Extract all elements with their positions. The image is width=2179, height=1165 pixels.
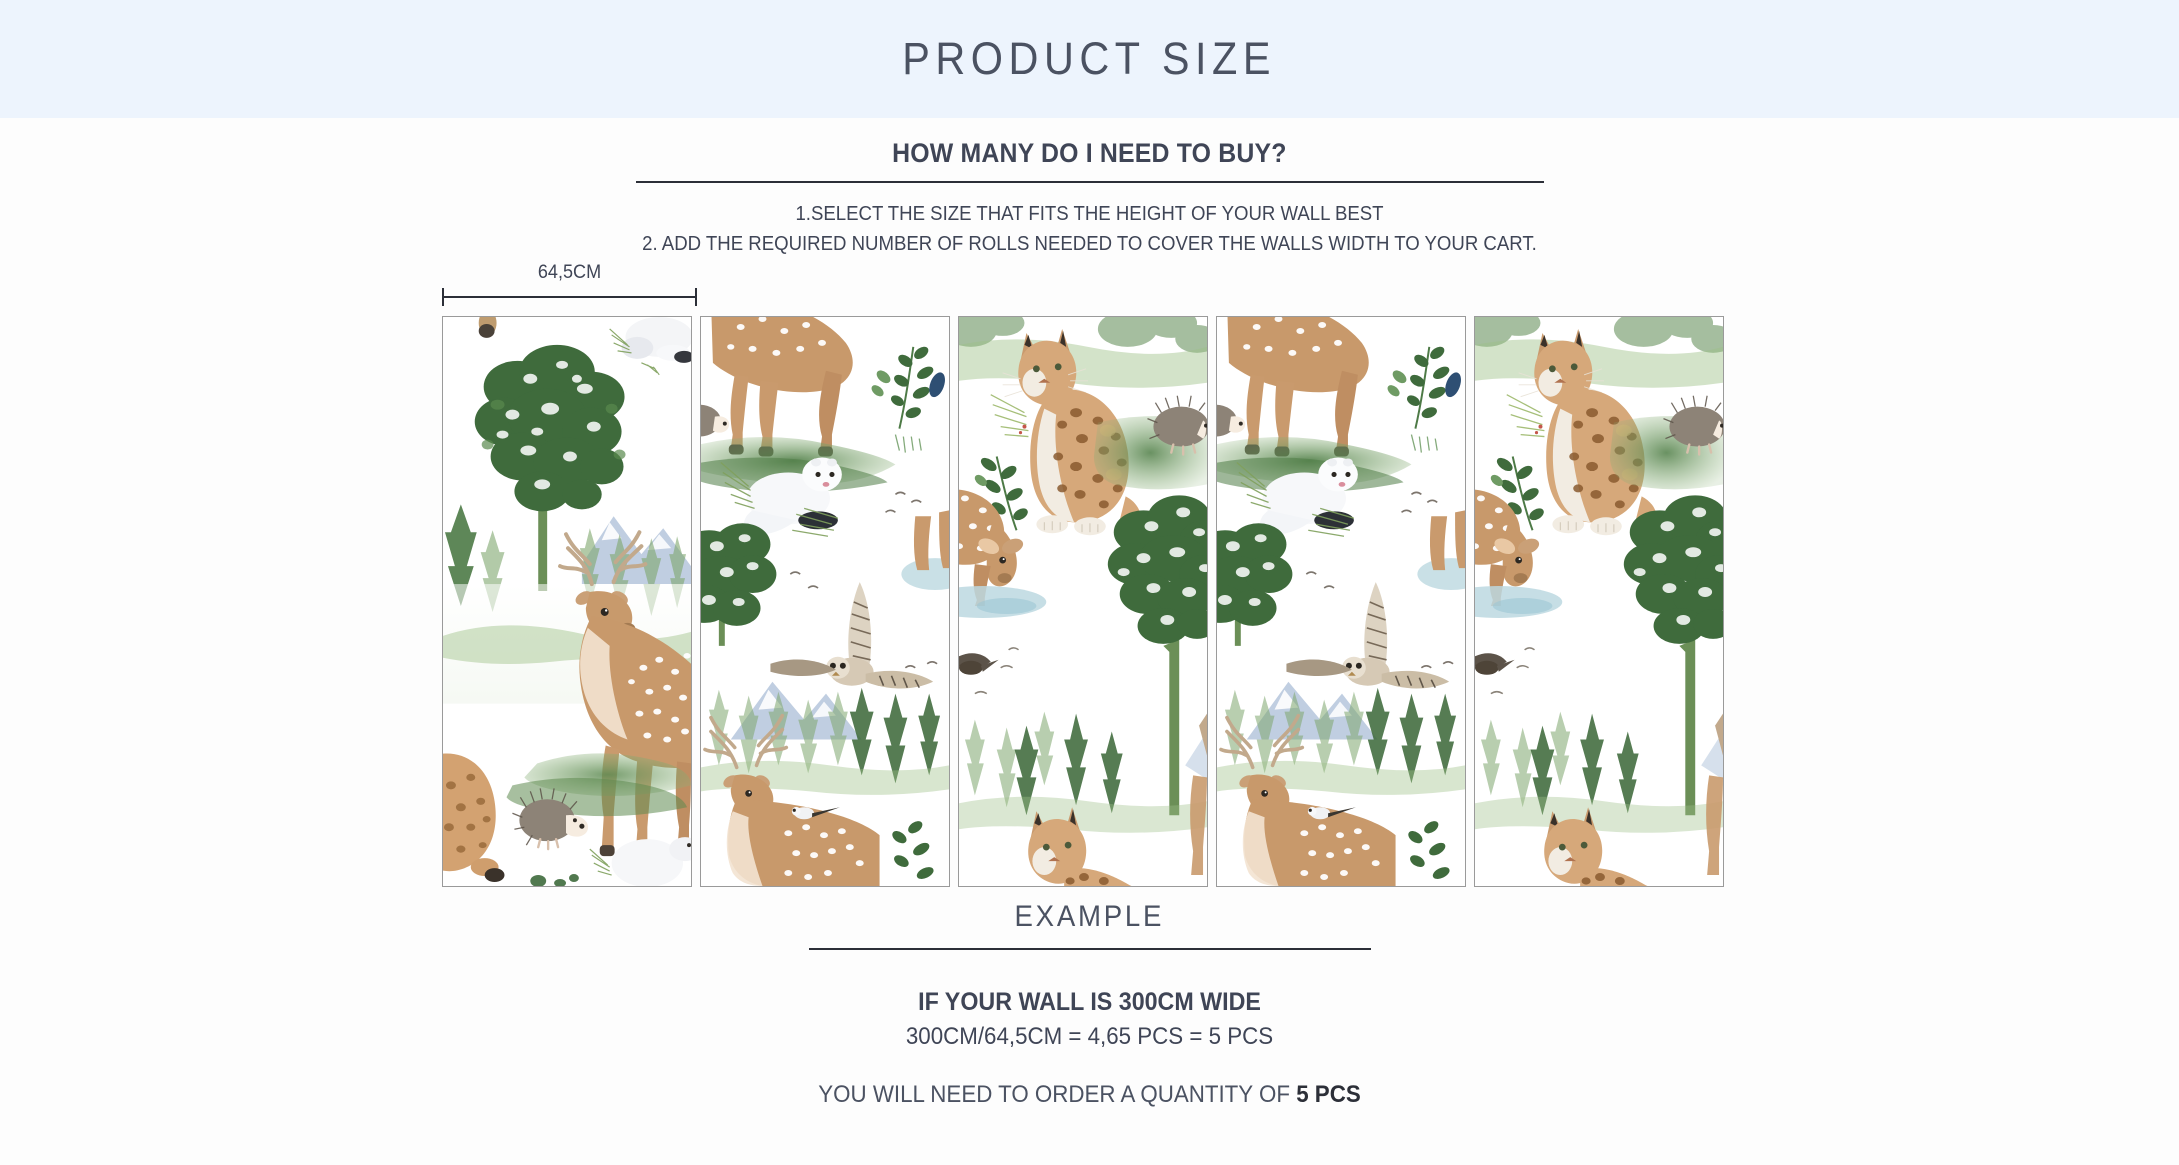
woodland-pattern-b	[701, 317, 949, 886]
measurement-tick-right	[695, 288, 697, 306]
wallpaper-panel-1[interactable]	[442, 316, 692, 887]
example-order-quantity-value: 5 PCS	[1296, 1081, 1361, 1108]
example-order-quantity: YOU WILL NEED TO ORDER A QUANTITY OF 5 P…	[76, 1081, 2102, 1109]
width-measurement-label: 64,5CM	[448, 262, 690, 284]
instruction-step-2: 2. ADD THE REQUIRED NUMBER OF ROLLS NEED…	[76, 230, 2102, 260]
page-title: PRODUCT SIZE	[903, 33, 1277, 85]
example-divider	[809, 948, 1371, 950]
example-order-prefix: YOU WILL NEED TO ORDER A QUANTITY OF	[818, 1081, 1296, 1108]
page-header-band: PRODUCT SIZE	[0, 0, 2179, 118]
panel-row	[442, 316, 1724, 887]
wallpaper-panel-5[interactable]	[1474, 316, 1724, 887]
wallpaper-panel-2[interactable]	[700, 316, 950, 887]
wallpaper-panel-3[interactable]	[958, 316, 1208, 887]
instructions-section: HOW MANY DO I NEED TO BUY? 1.SELECT THE …	[0, 138, 2179, 259]
instruction-list: 1.SELECT THE SIZE THAT FITS THE HEIGHT O…	[0, 200, 2179, 259]
wallpaper-panel-4[interactable]	[1216, 316, 1466, 887]
measurement-line	[442, 296, 697, 298]
width-measurement: 64,5CM	[442, 264, 697, 308]
instructions-heading: HOW MANY DO I NEED TO BUY?	[892, 138, 1286, 169]
example-calculation: 300CM/64,5CM = 4,65 PCS = 5 PCS	[76, 1023, 2102, 1051]
instructions-divider	[636, 181, 1544, 183]
woodland-pattern-c	[959, 317, 1207, 886]
woodland-pattern-a	[443, 317, 691, 886]
example-wall-width: IF YOUR WALL IS 300CM WIDE	[76, 988, 2102, 1017]
woodland-pattern-c-repeat	[1475, 317, 1723, 886]
instruction-step-1: 1.SELECT THE SIZE THAT FITS THE HEIGHT O…	[76, 200, 2102, 230]
example-section: EXAMPLE IF YOUR WALL IS 300CM WIDE 300CM…	[0, 900, 2179, 1109]
measurement-tick-left	[442, 288, 444, 306]
example-heading: EXAMPLE	[1015, 900, 1165, 934]
woodland-pattern-b-repeat	[1217, 317, 1465, 886]
